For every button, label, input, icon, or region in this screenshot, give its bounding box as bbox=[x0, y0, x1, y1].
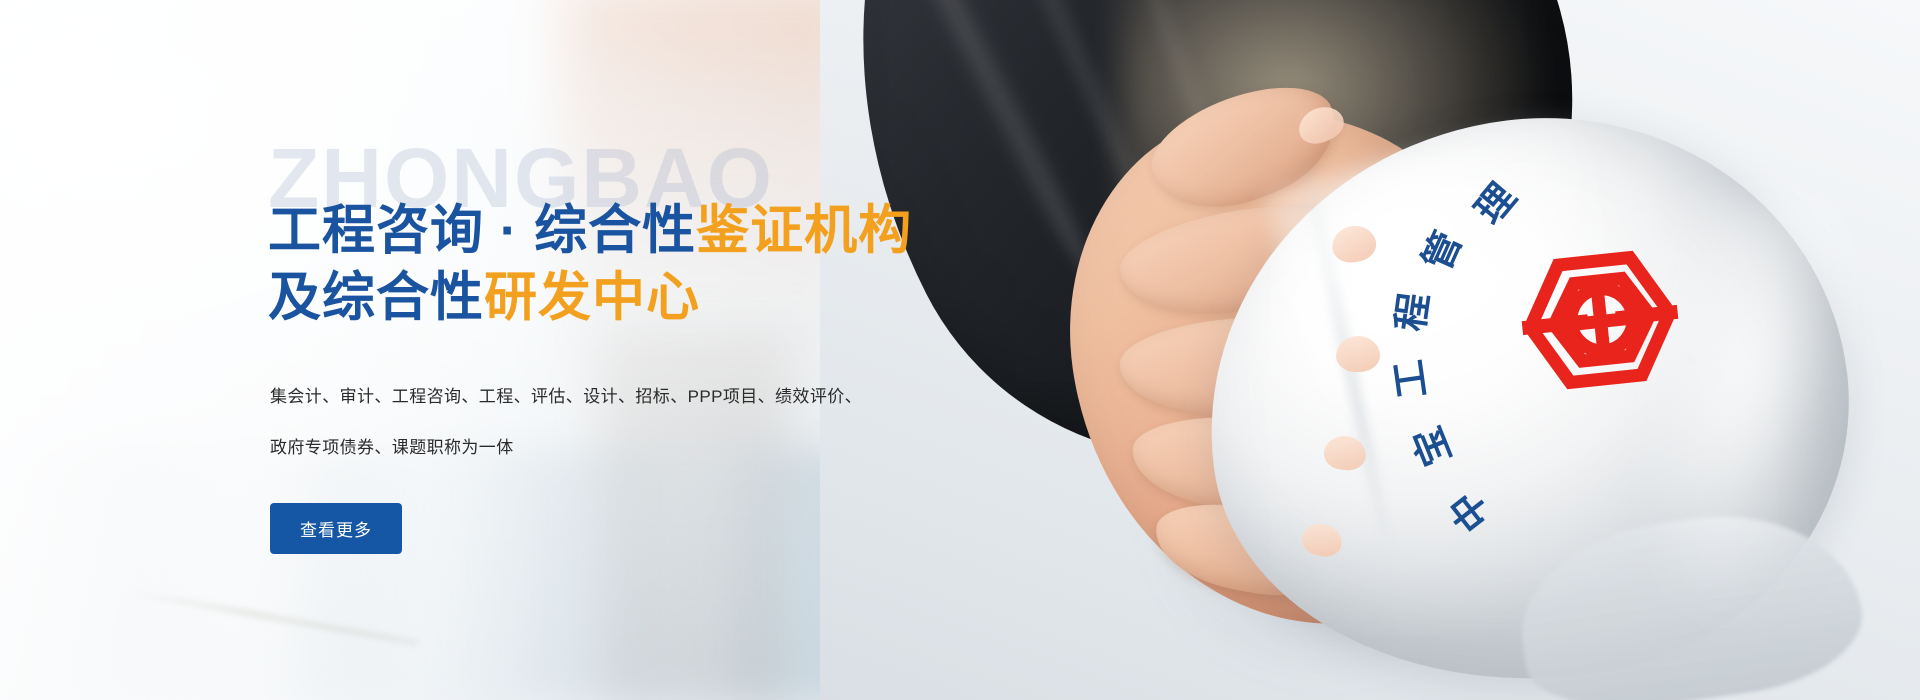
view-more-button[interactable]: 查看更多 bbox=[270, 503, 402, 554]
headline-line-1-orange: 鉴证机构 bbox=[696, 201, 912, 260]
headline-line-2-blue: 及综合性 bbox=[268, 268, 484, 327]
subtitle: 集会计、审计、工程咨询、工程、评估、设计、招标、PPP项目、绩效评价、 政府专项… bbox=[270, 388, 1010, 490]
helmet-arc-char-2: 宝 bbox=[1396, 420, 1461, 476]
hero-content: ZHONGBAO 工程咨询 · 综合性鉴证机构 及综合性研发中心 集会计、审计、… bbox=[268, 0, 1068, 700]
subtitle-line-2: 政府专项债券、课题职称为一体 bbox=[270, 439, 1010, 456]
headline-line-2: 及综合性研发中心 bbox=[268, 265, 1028, 332]
subtitle-line-1: 集会计、审计、工程咨询、工程、评估、设计、招标、PPP项目、绩效评价、 bbox=[270, 388, 1010, 405]
headline-line-2-orange: 研发中心 bbox=[484, 268, 700, 327]
helmet-arc-char-6: 理 bbox=[1460, 169, 1527, 233]
headline-line-1-blue: 工程咨询 · 综合性 bbox=[268, 201, 696, 260]
helmet-arc-char-5: 管 bbox=[1406, 221, 1472, 278]
headline: 工程咨询 · 综合性鉴证机构 及综合性研发中心 bbox=[268, 198, 1028, 332]
helmet-arc-char-1: 中 bbox=[1434, 482, 1501, 546]
headline-line-1: 工程咨询 · 综合性鉴证机构 bbox=[268, 198, 1028, 265]
hero-banner: 中 宝 工 程 管 理 ZHONGBAO bbox=[0, 0, 1920, 700]
helmet-arc-char-4: 程 bbox=[1379, 289, 1439, 334]
zhongbao-hexagon-logo-icon bbox=[1513, 237, 1688, 403]
helmet-arc-char-3: 工 bbox=[1377, 357, 1437, 402]
